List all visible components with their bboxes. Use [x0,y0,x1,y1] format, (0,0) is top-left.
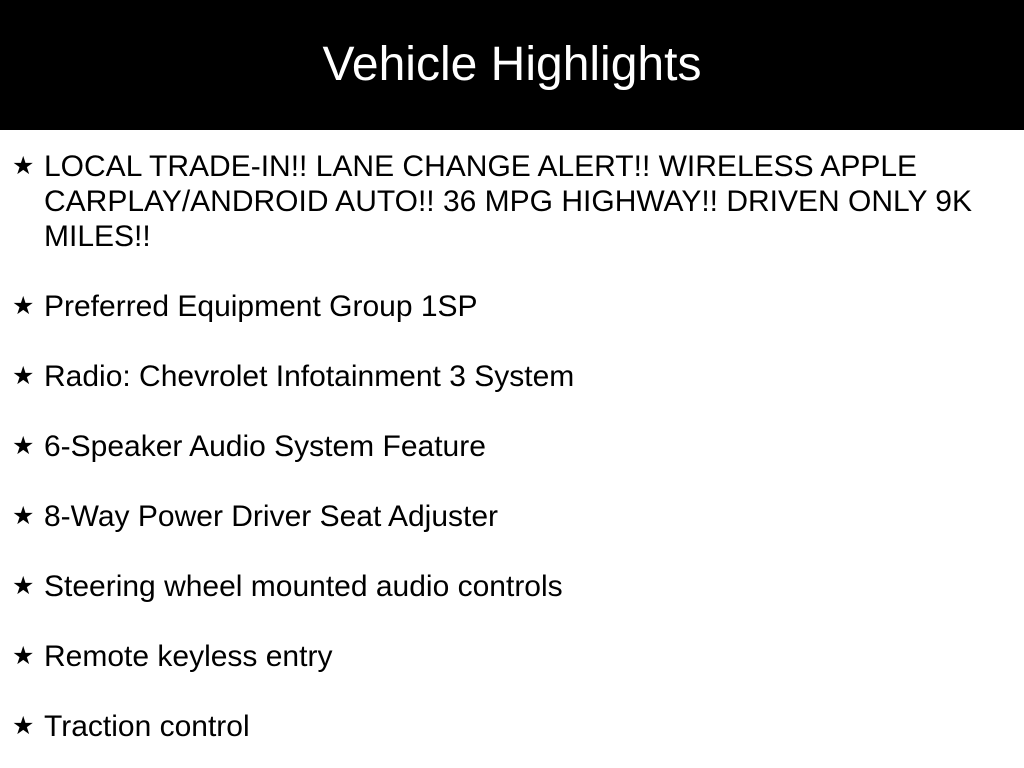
list-item: ★ 6-Speaker Audio System Feature [0,429,1024,464]
list-item-label: LOCAL TRADE-IN!! LANE CHANGE ALERT!! WIR… [44,149,984,254]
star-bullet-icon: ★ [12,359,38,394]
star-bullet-icon: ★ [12,639,38,674]
list-item: ★ Steering wheel mounted audio controls [0,569,1024,604]
list-item-label: Steering wheel mounted audio controls [44,569,984,604]
list-item: ★ LOCAL TRADE-IN!! LANE CHANGE ALERT!! W… [0,149,1024,254]
list-item-label: Radio: Chevrolet Infotainment 3 System [44,359,984,394]
list-item-label: Traction control [44,709,984,744]
star-bullet-icon: ★ [12,289,38,324]
star-bullet-icon: ★ [12,569,38,604]
star-bullet-icon: ★ [12,429,38,464]
list-item: ★ Preferred Equipment Group 1SP [0,289,1024,324]
list-item-label: Remote keyless entry [44,639,984,674]
page-title: Vehicle Highlights [323,40,702,90]
list-item: ★ Remote keyless entry [0,639,1024,674]
star-bullet-icon: ★ [12,709,38,744]
star-bullet-icon: ★ [12,499,38,534]
vehicle-highlights-page: Vehicle Highlights ★ LOCAL TRADE-IN!! LA… [0,0,1024,768]
list-item-label: 6-Speaker Audio System Feature [44,429,984,464]
list-item-label: 8-Way Power Driver Seat Adjuster [44,499,984,534]
list-item: ★ 8-Way Power Driver Seat Adjuster [0,499,1024,534]
list-item-label: Preferred Equipment Group 1SP [44,289,984,324]
vehicle-highlights-list: ★ LOCAL TRADE-IN!! LANE CHANGE ALERT!! W… [0,130,1024,768]
star-bullet-icon: ★ [12,149,38,184]
list-item: ★ Traction control [0,709,1024,744]
list-item: ★ Radio: Chevrolet Infotainment 3 System [0,359,1024,394]
page-header-banner: Vehicle Highlights [0,0,1024,130]
